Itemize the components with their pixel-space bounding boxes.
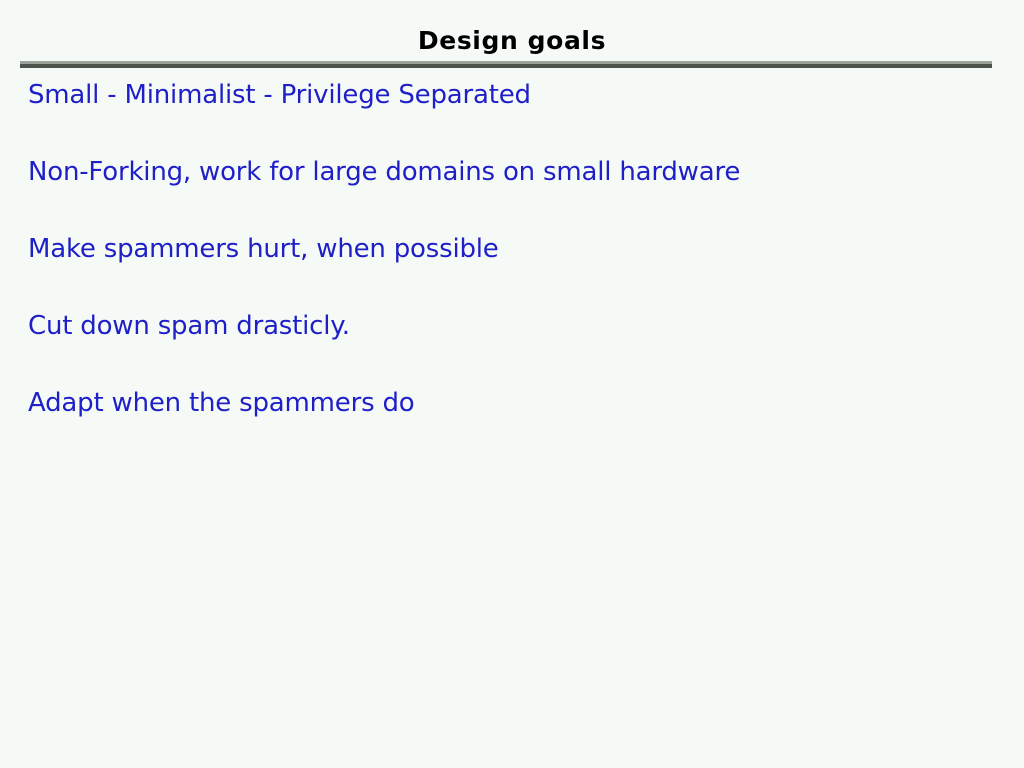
slide-bullet-3: Make spammers hurt, when possible	[28, 232, 1008, 309]
slide-bullet-1: Small - Minimalist - Privilege Separated	[28, 78, 1008, 155]
title-divider-bottom	[20, 64, 992, 68]
slide-body: Small - Minimalist - Privilege Separated…	[28, 78, 1008, 420]
title-divider	[20, 61, 992, 68]
presentation-slide: Design goals Small - Minimalist - Privil…	[0, 0, 1024, 768]
page-title: Design goals	[0, 26, 1024, 56]
slide-bullet-4: Cut down spam drasticly.	[28, 309, 1008, 386]
slide-bullet-5: Adapt when the spammers do	[28, 386, 1008, 420]
slide-bullet-2: Non-Forking, work for large domains on s…	[28, 155, 1008, 232]
